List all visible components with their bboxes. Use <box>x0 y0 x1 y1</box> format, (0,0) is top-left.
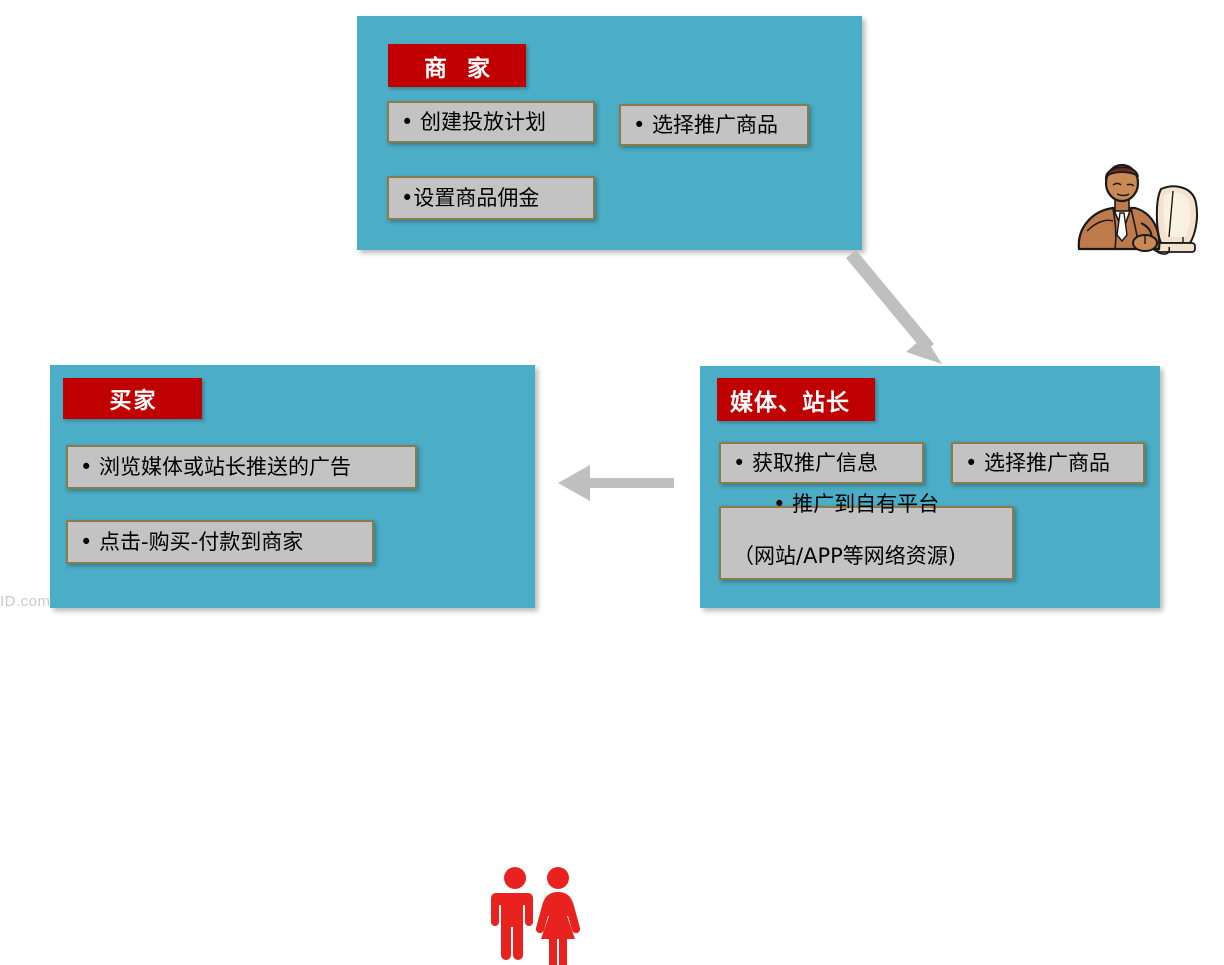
media-banner-label: 媒体、站长 <box>717 378 875 421</box>
buyer-banner-label: 买家 <box>63 378 202 419</box>
media-to-buyer-arrow <box>556 460 676 508</box>
buyer-panel: 买家 • 浏览媒体或站长推送的广告 • 点击-购买-付款到商家 <box>50 365 535 608</box>
media-item-line-1: • 推广到自有平台 <box>773 492 939 516</box>
merchant-panel: 商 家 • 创建投放计划 • 选择推广商品 •设置商品佣金 <box>357 16 862 250</box>
buyer-item-click-buy-pay: • 点击-购买-付款到商家 <box>66 520 374 564</box>
merchant-to-media-arrow <box>830 248 960 373</box>
media-item-line-2: （网站/APP等网络资源) <box>733 543 956 569</box>
man-woman-pictogram-icon <box>490 865 582 965</box>
merchant-item-set-commission: •设置商品佣金 <box>387 176 595 220</box>
merchant-item-create-plan: • 创建投放计划 <box>387 101 595 143</box>
merchant-item-select-product: • 选择推广商品 <box>619 104 809 146</box>
businessman-at-computer-icon <box>1057 161 1207 261</box>
media-webmaster-panel: 媒体、站长 • 获取推广信息 • 选择推广商品 • 推广到自有平台 （网站/AP… <box>700 366 1160 608</box>
buyer-item-browse-ads: • 浏览媒体或站长推送的广告 <box>66 445 417 489</box>
media-item-promote-own-platform: • 推广到自有平台 （网站/APP等网络资源) <box>719 506 1014 580</box>
watermark-text: ID.com <box>0 593 51 610</box>
merchant-banner-label: 商 家 <box>388 44 526 87</box>
media-item-select-product: • 选择推广商品 <box>951 442 1145 484</box>
